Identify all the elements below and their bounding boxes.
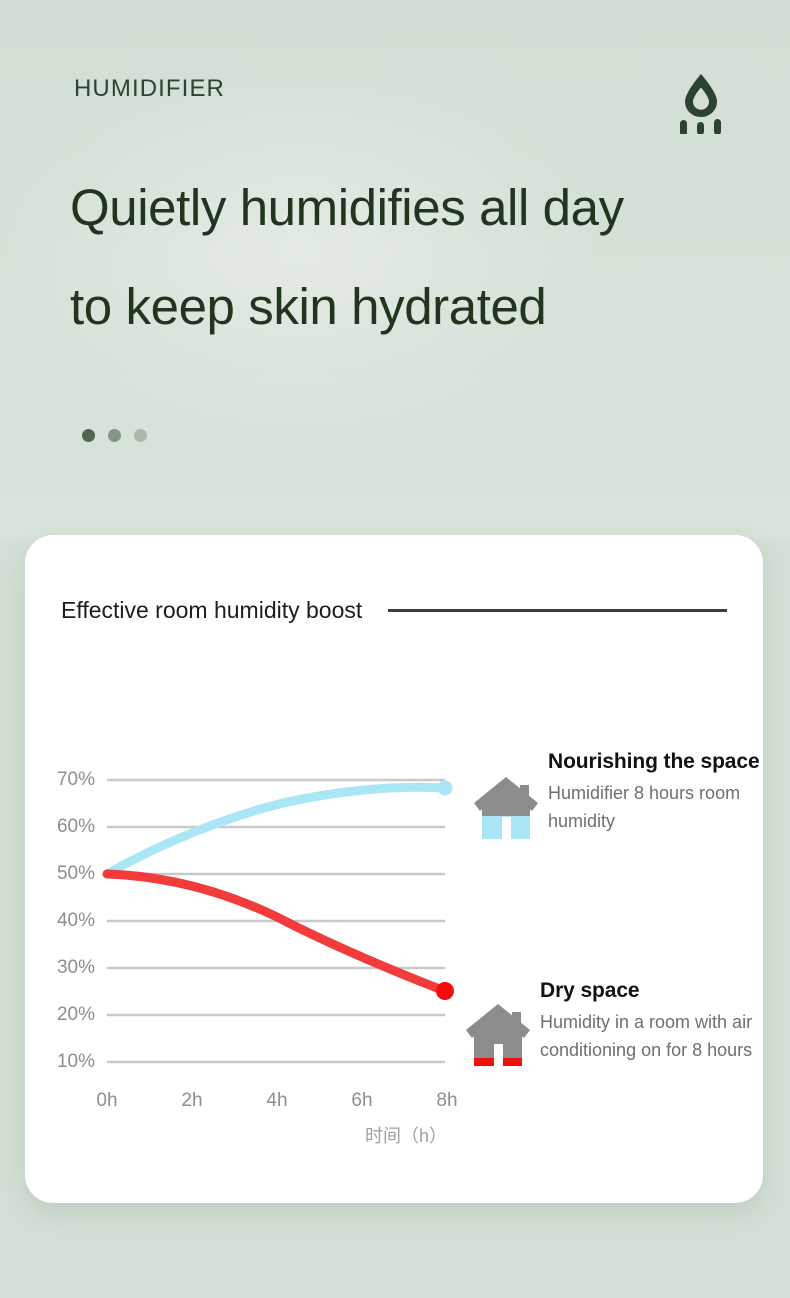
y-tick-label: 70% [39, 769, 95, 791]
legend-title: Dry space [540, 979, 640, 1002]
legend-text-block: Nourishing the space Humidifier 8 hours … [548, 745, 762, 835]
x-axis-caption: 时间（h） [365, 1122, 447, 1148]
headline-line-1: Quietly humidifies all day [70, 158, 730, 257]
x-tick-label: 8h [417, 1090, 477, 1112]
carousel-dot-2[interactable] [108, 429, 121, 442]
legend-title: Nourishing the space [548, 750, 760, 773]
series-line-nourishing [107, 787, 445, 874]
x-tick-label: 6h [332, 1090, 392, 1112]
humidity-chart-card: Effective room humidity boost 70% 60% [25, 535, 763, 1203]
series-endpoint-nourishing [438, 781, 453, 796]
page-title: Quietly humidifies all day to keep skin … [70, 158, 730, 356]
y-tick-label: 20% [39, 1004, 95, 1026]
legend-description: Humidifier 8 hours room humidity [548, 779, 762, 835]
carousel-dot-3[interactable] [134, 429, 147, 442]
series-line-dry [107, 874, 445, 991]
headline-line-2: to keep skin hydrated [70, 257, 730, 356]
legend-description: Humidity in a room with air conditioning… [540, 1008, 772, 1064]
water-droplet-mist-icon [672, 72, 730, 134]
x-tick-label: 2h [162, 1090, 222, 1112]
legend-item-nourishing: Nourishing the space Humidifier 8 hours … [470, 745, 770, 843]
y-tick-label: 30% [39, 957, 95, 979]
x-tick-label: 0h [77, 1090, 137, 1112]
humidity-line-chart: 70% 60% 50% 40% 30% 20% 10% 0h 2h 4h 6h … [25, 535, 763, 1203]
legend-item-dry: Dry space Humidity in a room with air co… [462, 974, 774, 1070]
y-tick-label: 10% [39, 1051, 95, 1073]
house-humidified-icon [470, 773, 542, 843]
y-tick-label: 40% [39, 910, 95, 932]
series-endpoint-dry [436, 982, 454, 1000]
legend-text-block: Dry space Humidity in a room with air co… [540, 974, 772, 1064]
house-dry-icon [462, 1000, 534, 1070]
page-eyebrow: HUMIDIFIER [74, 75, 225, 103]
y-tick-label: 50% [39, 863, 95, 885]
carousel-dot-1[interactable] [82, 429, 95, 442]
hero-banner: HUMIDIFIER Quietly humidifies all day to… [0, 0, 790, 540]
x-tick-label: 4h [247, 1090, 307, 1112]
carousel-indicator[interactable] [82, 429, 147, 442]
y-tick-label: 60% [39, 816, 95, 838]
